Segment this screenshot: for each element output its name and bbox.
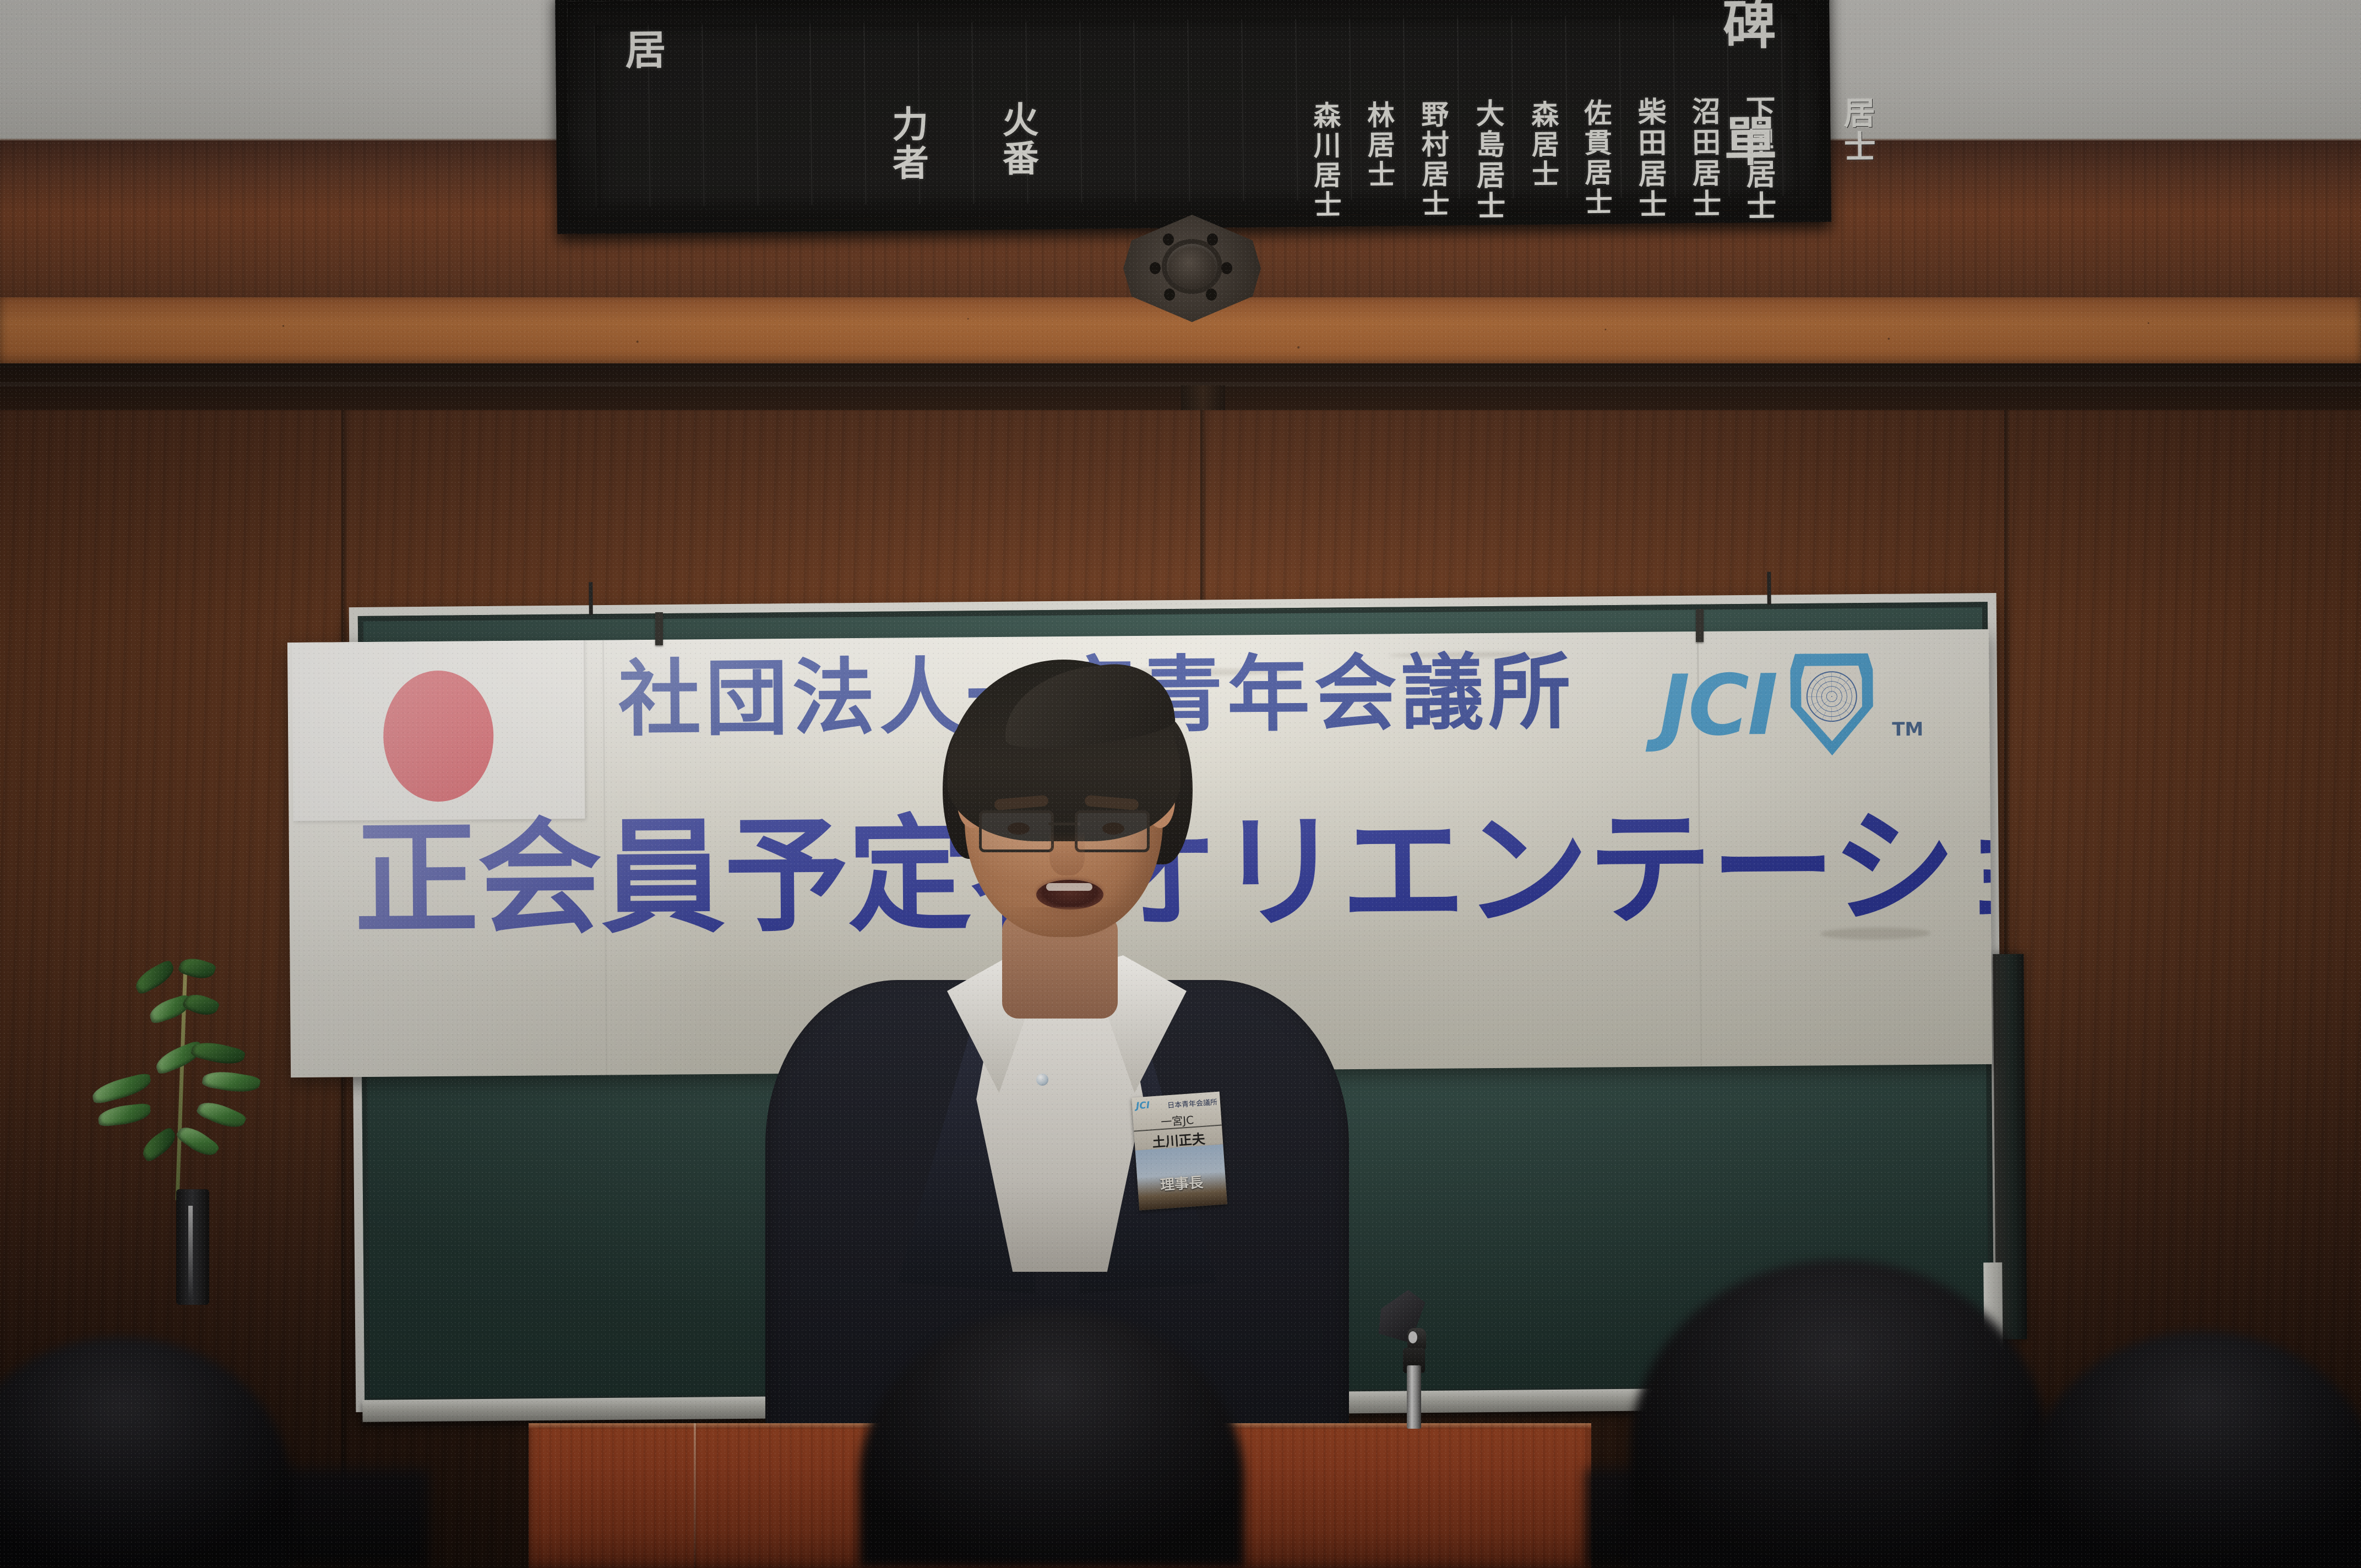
plaque-name-6: 柴田居士 [1629,97,1671,221]
trademark-mark: TM [1892,718,1923,741]
jci-logo: JCI TM [1658,653,1923,757]
microphone-stand [1407,1365,1421,1429]
japan-flag [292,637,585,821]
board-hanger [589,582,593,615]
badge-jci-mark: JCI [1135,1100,1150,1112]
plaque-name-0: 森川居士 [1305,101,1346,220]
banner-nail [1696,609,1704,642]
lapel-pin [1036,1074,1048,1086]
jci-shield-icon [1790,654,1873,756]
plaque-name-3: 大島居士 [1467,99,1509,222]
plaque-lone-column: 居士 [1834,96,1880,165]
photo-scene: 居 力者 火番 森川居士 林居士 野村居士 大島居士 森居士 佐貫居士 柴田居士… [0,0,2361,1568]
plaque-name-1: 林居士 [1359,100,1400,190]
plaque-name-2: 野村居士 [1413,100,1454,219]
plaque-column-1: 火番 [991,101,1045,178]
plaque-column-0: 力者 [881,105,934,183]
board-hanger [1767,572,1771,605]
plaque-rule-lines [594,14,1799,207]
jci-wordmark: JCI [1659,663,1777,748]
hinomaru-disc [383,670,494,802]
plaque-far-left-column: 居 [613,28,672,72]
banner-nail [655,612,663,645]
plaque-right-column: 碑 單 [1706,0,1785,172]
vase [176,1189,209,1305]
open-mouth [1036,880,1103,910]
plaque-name-4: 森居士 [1523,100,1564,190]
plaque-name-5: 佐貫居士 [1576,99,1617,218]
memorial-name-plaque: 居 力者 火番 森川居士 林居士 野村居士 大島居士 森居士 佐貫居士 柴田居士… [555,0,1831,234]
green-leaf-sprig-in-vase [66,930,325,1305]
name-badge: JCI 日本青年会議所 一宮JC 土川正夫 理事長 [1131,1092,1227,1211]
